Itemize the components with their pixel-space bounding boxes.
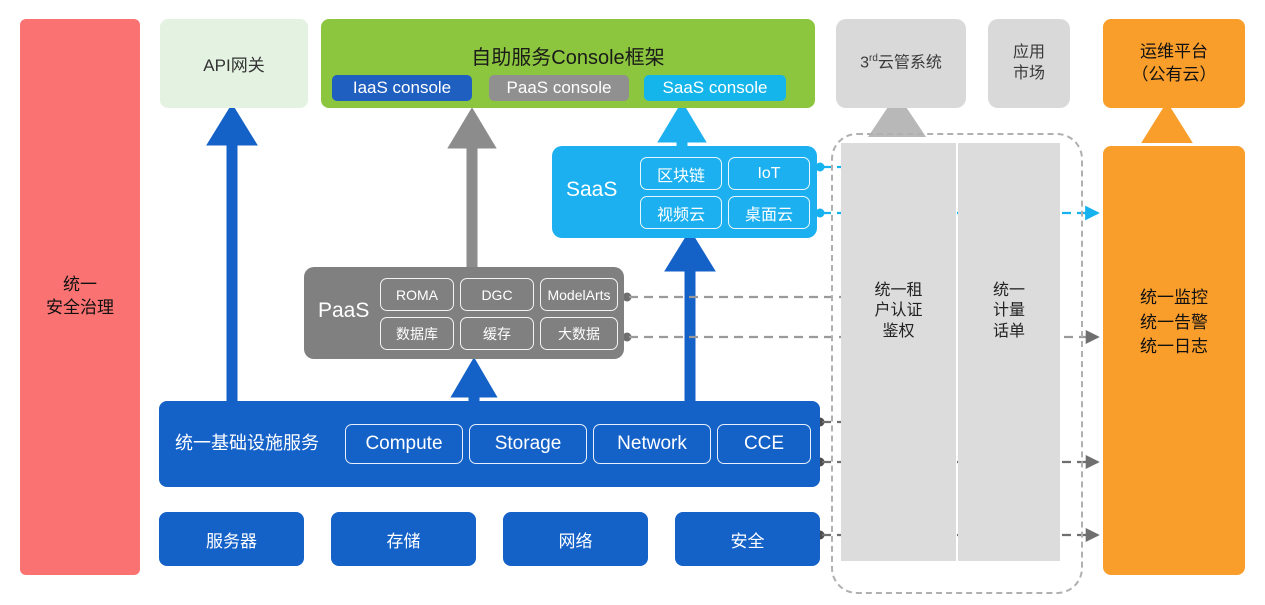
ops-platform-header-box[interactable]: 运维平台 （公有云） xyxy=(1103,19,1245,108)
saas-block[interactable]: SaaS 区块链 IoT 视频云 桌面云 xyxy=(552,146,817,238)
paas-item-database[interactable]: 数据库 xyxy=(380,317,454,350)
hardware-box-security[interactable]: 安全 xyxy=(675,512,820,566)
iaas-console-label: IaaS console xyxy=(353,78,451,98)
ops-platform-line2: （公有云） xyxy=(1132,64,1217,87)
ops-platform-body-panel[interactable]: 统一监控 统一告警 统一日志 xyxy=(1103,146,1245,575)
infra-item-network[interactable]: Network xyxy=(593,424,711,464)
paas-console-label: PaaS console xyxy=(507,78,612,98)
saas-console-label: SaaS console xyxy=(663,78,768,98)
hardware-box-server[interactable]: 服务器 xyxy=(159,512,304,566)
iaas-console-chip[interactable]: IaaS console xyxy=(332,75,472,101)
third-party-cloud-mgmt-label: 3rd云管系统 xyxy=(860,53,942,74)
saas-console-chip[interactable]: SaaS console xyxy=(644,75,786,101)
paas-item-dgc[interactable]: DGC xyxy=(460,278,534,311)
ops-body-line3: 统一日志 xyxy=(1103,335,1245,360)
ops-platform-body-label: 统一监控 统一告警 统一日志 xyxy=(1103,286,1245,360)
console-frame-title: 自助服务Console框架 xyxy=(321,41,815,70)
paas-block[interactable]: PaaS ROMA DGC ModelArts 数据库 缓存 大数据 xyxy=(304,267,624,359)
security-governance-line2: 安全治理 xyxy=(46,297,114,320)
ops-body-line2: 统一告警 xyxy=(1103,311,1245,336)
shared-service-column-billing xyxy=(958,143,1060,561)
hardware-box-network[interactable]: 网络 xyxy=(503,512,648,566)
app-market-line1: 应用 xyxy=(1013,43,1045,64)
arrow-saas-to-saas-console xyxy=(667,112,697,150)
saas-item-blockchain[interactable]: 区块链 xyxy=(640,157,722,190)
arrow-infra-to-paas xyxy=(460,368,488,405)
arrow-infra-to-api xyxy=(216,114,248,405)
app-market-line2: 市场 xyxy=(1013,64,1045,85)
infra-item-cce[interactable]: CCE xyxy=(717,424,811,464)
shared-service-billing-label: 统一 计量 话单 xyxy=(958,281,1060,342)
paas-item-bigdata[interactable]: 大数据 xyxy=(540,317,618,350)
ops-platform-line1: 运维平台 xyxy=(1140,41,1208,64)
api-gateway-box[interactable]: API网关 xyxy=(160,19,308,108)
shared-service-column-auth xyxy=(841,143,956,561)
hardware-box-storage[interactable]: 存储 xyxy=(331,512,476,566)
arrow-shared-to-third-party xyxy=(881,106,913,133)
app-market-box[interactable]: 应用 市场 xyxy=(988,19,1070,108)
security-governance-line1: 统一 xyxy=(63,274,97,297)
paas-title: PaaS xyxy=(318,299,369,323)
paas-console-chip[interactable]: PaaS console xyxy=(489,75,629,101)
infra-item-compute[interactable]: Compute xyxy=(345,424,463,464)
paas-item-cache[interactable]: 缓存 xyxy=(460,317,534,350)
arrow-paas-to-console xyxy=(457,118,487,272)
third-party-cloud-mgmt-box[interactable]: 3rd云管系统 xyxy=(836,19,966,108)
paas-item-modelarts[interactable]: ModelArts xyxy=(540,278,618,311)
paas-item-roma[interactable]: ROMA xyxy=(380,278,454,311)
arrow-to-ops-platform xyxy=(1152,113,1182,143)
arrow-infra-to-saas xyxy=(674,240,706,405)
ops-body-line1: 统一监控 xyxy=(1103,286,1245,311)
infra-item-storage[interactable]: Storage xyxy=(469,424,587,464)
infra-title: 统一基础设施服务 xyxy=(175,429,319,455)
self-service-console-frame[interactable]: 自助服务Console框架 IaaS console PaaS console … xyxy=(321,19,815,108)
saas-item-iot[interactable]: IoT xyxy=(728,157,810,190)
saas-title: SaaS xyxy=(566,178,617,202)
shared-service-auth-label: 统一租 户认证 鉴权 xyxy=(841,281,956,342)
saas-item-video-cloud[interactable]: 视频云 xyxy=(640,196,722,229)
saas-item-desktop-cloud[interactable]: 桌面云 xyxy=(728,196,810,229)
api-gateway-label: API网关 xyxy=(203,51,264,76)
unified-security-governance-panel[interactable]: 统一 安全治理 xyxy=(20,19,140,575)
unified-infrastructure-bar[interactable]: 统一基础设施服务 Compute Storage Network CCE xyxy=(159,401,820,487)
architecture-diagram: 统一租 户认证 鉴权 统一 计量 话单 统一 安全治理 API网关 自助服务Co… xyxy=(0,0,1265,605)
